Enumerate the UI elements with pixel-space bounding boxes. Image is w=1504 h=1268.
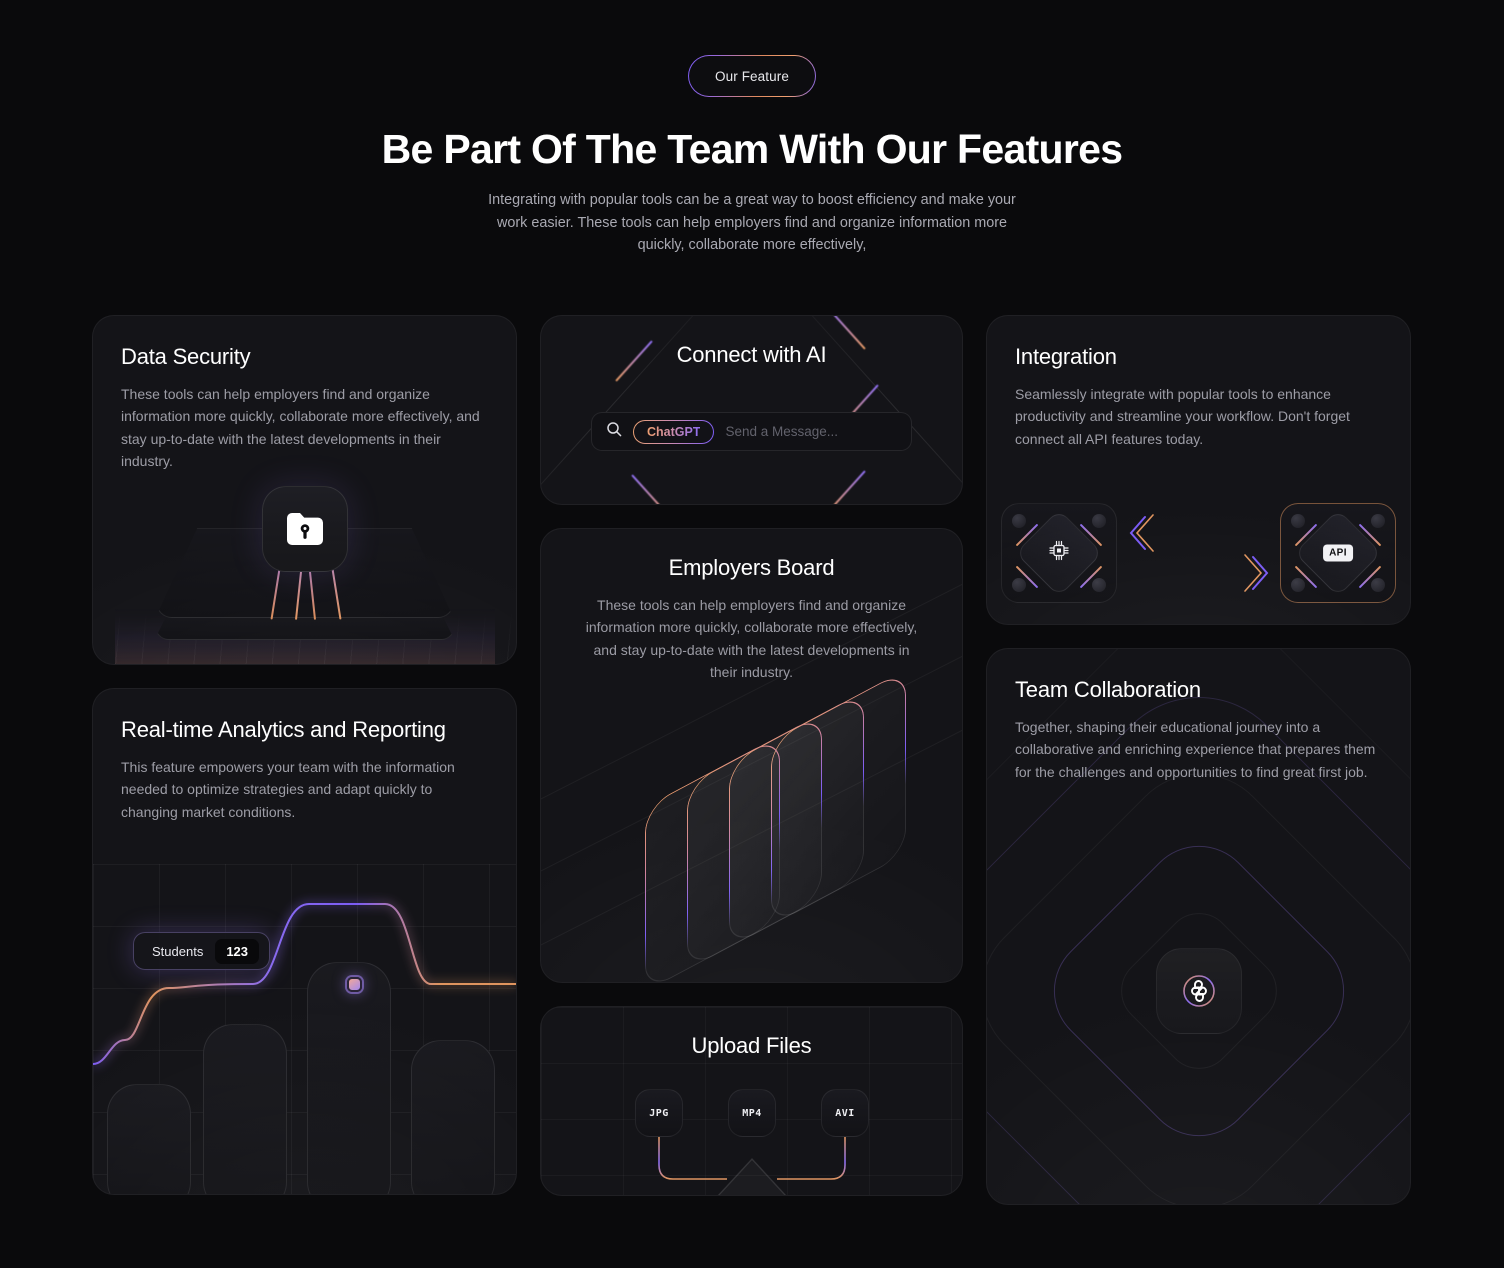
chatgpt-chip[interactable]: ChatGPT	[634, 421, 713, 443]
grid-column-left: Data Security These tools can help emplo…	[92, 315, 517, 1205]
card-integration[interactable]: Integration Seamlessly integrate with po…	[986, 315, 1411, 625]
ai-search-bar[interactable]: ChatGPT Send a Message...	[591, 412, 912, 451]
card-employers-body: These tools can help employers find and …	[583, 594, 920, 683]
upload-illustration: JPG MP4 AVI	[541, 1007, 962, 1195]
card-employers-text: Employers Board These tools can help emp…	[541, 529, 962, 683]
card-team-title: Team Collaboration	[1015, 677, 1382, 703]
page-header: Our Feature Be Part Of The Team With Our…	[0, 0, 1504, 257]
card-analytics-body: This feature empowers your team with the…	[121, 756, 488, 823]
chart-tooltip: Students 123	[133, 932, 270, 970]
our-feature-badge-label: Our Feature	[689, 56, 815, 96]
card-data-security[interactable]: Data Security These tools can help emplo…	[92, 315, 517, 665]
chart-line	[93, 864, 516, 1194]
our-feature-badge[interactable]: Our Feature	[689, 56, 815, 96]
card-connect-ai[interactable]: Connect with AI ChatGPT Send a Message..…	[540, 315, 963, 505]
card-analytics-text: Real-time Analytics and Reporting This f…	[93, 689, 516, 823]
card-data-security-text: Data Security These tools can help emplo…	[93, 316, 516, 472]
analytics-chart: Students 123	[93, 864, 516, 1194]
card-connect-ai-title: Connect with AI	[583, 342, 920, 368]
integration-node-right: API	[1280, 503, 1396, 603]
card-team-collaboration[interactable]: Team Collaboration Together, shaping the…	[986, 648, 1411, 1205]
integration-node-left	[1001, 503, 1117, 603]
page-title: Be Part Of The Team With Our Features	[0, 126, 1504, 173]
grid-column-center: Connect with AI ChatGPT Send a Message..…	[540, 315, 963, 1205]
chart-tooltip-label: Students	[152, 944, 203, 959]
card-employers-title: Employers Board	[583, 555, 920, 581]
grid-column-right: Integration Seamlessly integrate with po…	[986, 315, 1411, 1205]
integration-arrows	[1117, 503, 1282, 603]
card-team-text: Team Collaboration Together, shaping the…	[987, 649, 1410, 783]
feature-cards-grid: Data Security These tools can help emplo…	[92, 315, 1412, 1205]
interlocking-rings-icon	[1156, 948, 1242, 1034]
api-badge: API	[1323, 545, 1353, 562]
card-integration-text: Integration Seamlessly integrate with po…	[987, 316, 1410, 450]
chatgpt-chip-label: ChatGPT	[647, 425, 700, 439]
search-icon	[606, 421, 622, 442]
chart-tooltip-value: 123	[215, 939, 259, 964]
ai-message-input[interactable]: Send a Message...	[725, 424, 838, 439]
card-employers-board[interactable]: Employers Board These tools can help emp…	[540, 528, 963, 983]
card-upload-files[interactable]: Upload Files JPG MP4 AVI	[540, 1006, 963, 1196]
chart-marker-dot[interactable]	[347, 977, 362, 992]
card-integration-body: Seamlessly integrate with popular tools …	[1015, 383, 1382, 450]
card-data-security-body: These tools can help employers find and …	[121, 383, 488, 472]
folder-lock-icon	[262, 486, 348, 572]
data-security-illustration	[93, 474, 516, 664]
card-analytics[interactable]: Real-time Analytics and Reporting This f…	[92, 688, 517, 1195]
card-data-security-title: Data Security	[121, 344, 488, 370]
card-team-body: Together, shaping their educational jour…	[1015, 716, 1382, 783]
card-integration-title: Integration	[1015, 344, 1382, 370]
integration-illustration: API	[987, 489, 1410, 624]
card-connect-ai-text: Connect with AI	[541, 316, 962, 368]
upload-connectors	[541, 1007, 963, 1196]
chip-icon	[1046, 538, 1072, 569]
card-analytics-title: Real-time Analytics and Reporting	[121, 717, 488, 743]
page-subtitle: Integrating with popular tools can be a …	[472, 189, 1032, 257]
